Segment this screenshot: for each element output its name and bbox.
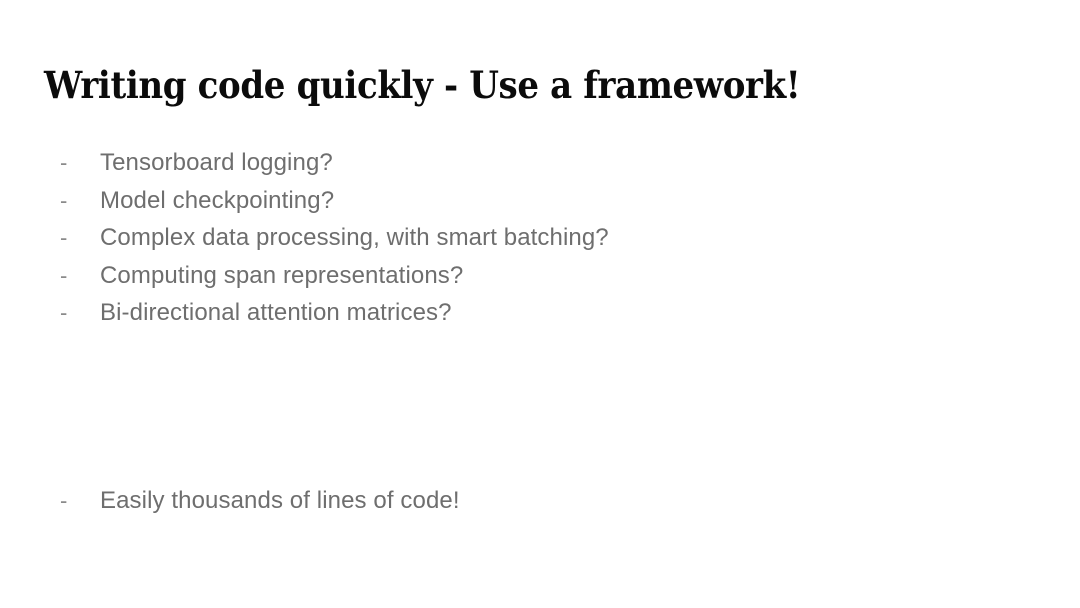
list-item: - Computing span representations? (60, 257, 1020, 295)
bullet-dash-icon: - (60, 294, 100, 332)
list-item-closing: - Easily thousands of lines of code! (60, 482, 1020, 520)
list-item-label: Bi-directional attention matrices? (100, 294, 452, 332)
list-item-label: Model checkpointing? (100, 182, 334, 220)
bullet-dash-icon: - (60, 182, 100, 220)
bullet-dash-icon: - (60, 144, 100, 182)
slide-canvas: Writing code quickly - Use a framework! … (0, 0, 1080, 608)
list-item-label: Computing span representations? (100, 257, 463, 295)
list-item-label: Tensorboard logging? (100, 144, 333, 182)
list-item: - Model checkpointing? (60, 182, 1020, 220)
bullet-list: - Tensorboard logging? - Model checkpoin… (60, 144, 1020, 519)
list-item-label: Easily thousands of lines of code! (100, 482, 460, 520)
list-item: - Tensorboard logging? (60, 144, 1020, 182)
bullet-dash-icon: - (60, 257, 100, 295)
list-item: - Complex data processing, with smart ba… (60, 219, 1020, 257)
bullet-dash-icon: - (60, 219, 100, 257)
list-item: - Bi-directional attention matrices? (60, 294, 1020, 332)
bullet-dash-icon: - (60, 482, 100, 520)
page-title: Writing code quickly - Use a framework! (44, 62, 800, 108)
list-item-label: Complex data processing, with smart batc… (100, 219, 609, 257)
